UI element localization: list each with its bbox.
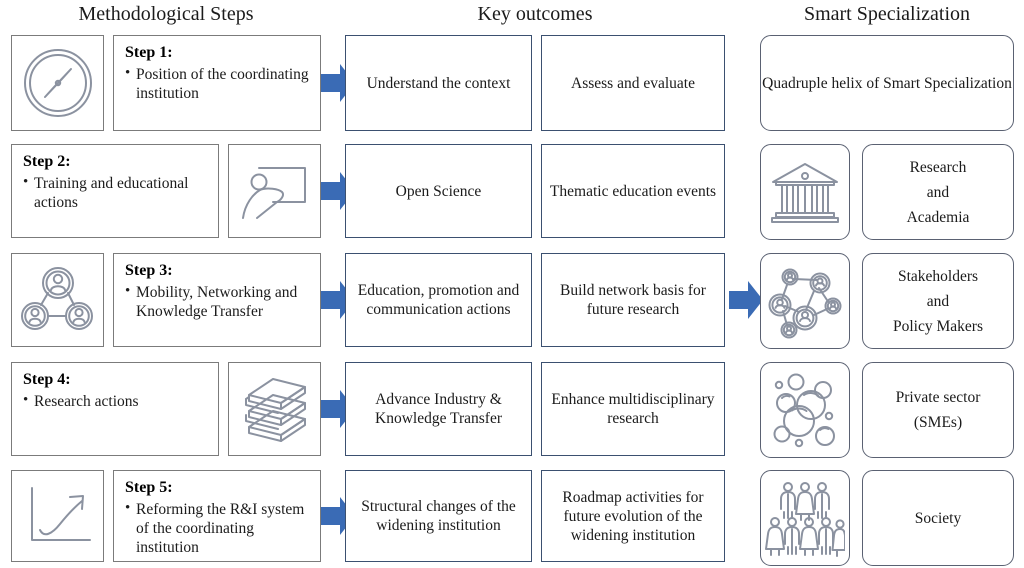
step-4-box: Step 4: Research actions — [11, 362, 219, 456]
step-1-title: Step 1: — [125, 43, 311, 63]
quadruple-helix-label: Quadruple helix of Smart Specialization — [762, 74, 1012, 93]
compass-icon — [21, 46, 95, 120]
actor-4-line-0: Society — [915, 506, 962, 531]
step-3-box: Step 3: Mobility, Networking and Knowled… — [113, 253, 321, 347]
header-methodological-steps-label: Methodological Steps — [79, 3, 254, 25]
outcome-4-left-label: Advance Industry & Knowledge Transfer — [353, 390, 524, 428]
outcome-5-right-box: Roadmap activities for future evolution … — [541, 470, 725, 562]
header-key-outcomes: Key outcomes — [345, 2, 725, 26]
outcome-4-left-box: Advance Industry & Knowledge Transfer — [345, 362, 532, 456]
actor-2-line-1: and — [893, 289, 983, 314]
step-1-icon-box — [11, 35, 104, 131]
diagram-canvas: Methodological Steps Key outcomes Smart … — [0, 0, 1024, 568]
actor-2-text-box: Stakeholders and Policy Makers — [862, 253, 1014, 349]
actor-3-text-box: Private sector (SMEs) — [862, 362, 1014, 458]
outcome-5-left-label: Structural changes of the widening insti… — [353, 497, 524, 535]
step-2-bullet-0: Training and educational actions — [23, 174, 209, 212]
actor-1-icon-box — [760, 144, 850, 240]
actor-1-text-box: Research and Academia — [862, 144, 1014, 240]
outcome-1-right-box: Assess and evaluate — [541, 35, 725, 131]
growth-chart-icon — [20, 482, 96, 550]
actor-1-line-0: Research — [907, 155, 970, 180]
step-4-bullets: Research actions — [23, 392, 209, 411]
stakeholder-network-icon — [767, 263, 843, 339]
step-2-box: Step 2: Training and educational actions — [11, 144, 219, 238]
quadruple-helix-box: Quadruple helix of Smart Specialization — [760, 35, 1014, 131]
outcome-3-right-box: Build network basis for future research — [541, 253, 725, 347]
step-5-title: Step 5: — [125, 478, 311, 498]
actor-3-line-1: (SMEs) — [896, 410, 981, 435]
outcome-2-right-label: Thematic education events — [550, 182, 716, 201]
outcome-2-right-box: Thematic education events — [541, 144, 725, 238]
step-2-bullets: Training and educational actions — [23, 174, 209, 212]
step-2-icon-box — [228, 144, 321, 238]
actor-1-line-2: Academia — [907, 205, 970, 230]
arrow-outcomes-to-smart-specialization — [729, 279, 763, 321]
book-stack-icon — [237, 373, 313, 445]
step-4-icon-box — [228, 362, 321, 456]
step-2-title: Step 2: — [23, 152, 209, 172]
outcome-1-right-label: Assess and evaluate — [571, 74, 695, 93]
step-3-bullets: Mobility, Networking and Knowledge Trans… — [125, 283, 311, 321]
step-1-box: Step 1: Position of the coordinating ins… — [113, 35, 321, 131]
step-5-box: Step 5: Reforming the R&I system of the … — [113, 470, 321, 562]
header-smart-specialization-label: Smart Specialization — [804, 3, 970, 25]
actor-3-line-0: Private sector — [896, 385, 981, 410]
right-arrow-icon — [729, 279, 763, 321]
step-4-title: Step 4: — [23, 370, 209, 390]
outcome-1-left-label: Understand the context — [367, 74, 511, 93]
step-5-bullet-0: Reforming the R&I system of the coordina… — [125, 500, 311, 557]
outcome-3-right-label: Build network basis for future research — [549, 281, 717, 319]
header-methodological-steps: Methodological Steps — [11, 2, 321, 26]
outcome-5-right-label: Roadmap activities for future evolution … — [549, 488, 717, 545]
step-3-icon-box — [11, 253, 104, 347]
step-4-bullet-0: Research actions — [23, 392, 209, 411]
outcome-2-left-label: Open Science — [396, 182, 482, 201]
step-1-bullet-0: Position of the coordinating institution — [125, 65, 311, 103]
outcome-4-right-box: Enhance multidisciplinary research — [541, 362, 725, 456]
actor-2-icon-box — [760, 253, 850, 349]
institution-icon — [768, 157, 842, 227]
actor-3-icon-box — [760, 362, 850, 458]
step-5-bullets: Reforming the R&I system of the coordina… — [125, 500, 311, 557]
actor-2-line-2: Policy Makers — [893, 314, 983, 339]
outcome-5-left-box: Structural changes of the widening insti… — [345, 470, 532, 562]
step-1-bullets: Position of the coordinating institution — [125, 65, 311, 103]
crowd-people-icon — [765, 478, 845, 558]
actor-1-line-1: and — [907, 180, 970, 205]
outcome-1-left-box: Understand the context — [345, 35, 532, 131]
outcome-3-left-label: Education, promotion and communication a… — [353, 281, 524, 319]
actor-2-line-0: Stakeholders — [893, 264, 983, 289]
header-smart-specialization: Smart Specialization — [760, 2, 1014, 26]
outcome-4-right-label: Enhance multidisciplinary research — [549, 390, 717, 428]
header-key-outcomes-label: Key outcomes — [478, 3, 593, 25]
actor-4-text-box: Society — [862, 470, 1014, 566]
network-people-icon — [21, 264, 95, 336]
step-3-title: Step 3: — [125, 261, 311, 281]
step-5-icon-box — [11, 470, 104, 562]
step-3-bullet-0: Mobility, Networking and Knowledge Trans… — [125, 283, 311, 321]
outcome-3-left-box: Education, promotion and communication a… — [345, 253, 532, 347]
outcome-2-left-box: Open Science — [345, 144, 532, 238]
actor-4-icon-box — [760, 470, 850, 566]
teacher-whiteboard-icon — [237, 156, 313, 226]
bubbles-icon — [768, 372, 842, 448]
